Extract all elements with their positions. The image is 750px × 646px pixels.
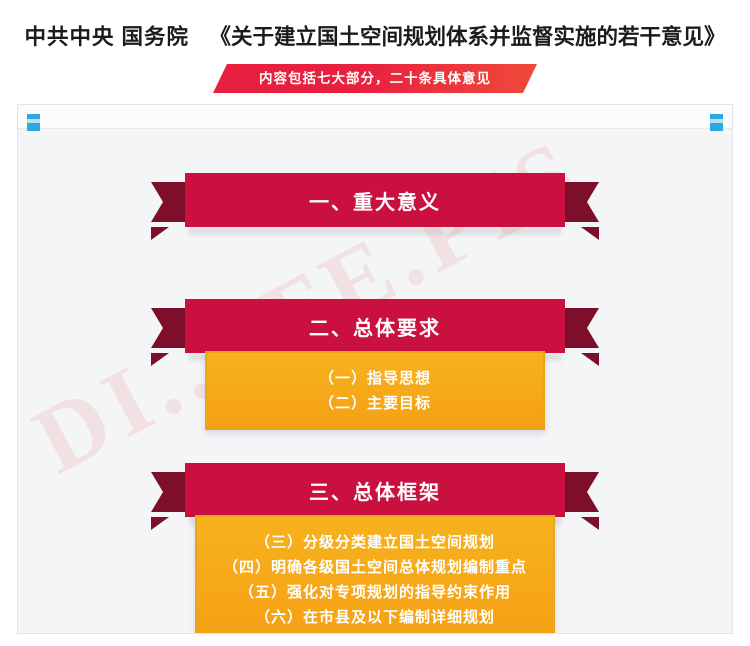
content-panel: DI..TFE.PIS 一、重大意义 二、总体要求 （一）指导思想 （二）主要目… [17,104,733,634]
panel-topbar [18,105,732,129]
ribbon-notch-left [151,227,169,240]
clip-left-icon [27,114,40,131]
ribbon-notch-right [581,353,599,366]
section-2-title: 二、总体要求 [185,299,565,353]
ribbon-tail-right [565,182,599,222]
section-2-items: （一）指导思想 （二）主要目标 [205,351,545,430]
ribbon-shadow [189,227,561,235]
section-1-ribbon: 一、重大意义 [185,173,565,227]
ribbon-tail-left [151,308,185,348]
list-item: （六）在市县及以下编制详细规划 [197,605,553,630]
section-3-items: （三）分级分类建立国土空间规划 （四）明确各级国土空间总体规划编制重点 （五）强… [195,515,555,634]
page-title-lead: 中共中央 国务院 [25,25,189,49]
subtitle-banner: 内容包括七大部分，二十条具体意见 [213,64,537,93]
section-2-ribbon: 二、总体要求 [185,299,565,353]
page-header: 中共中央 国务院 《关于建立国土空间规划体系并监督实施的若干意见》 内容包括七大… [0,0,750,100]
list-item: （四）明确各级国土空间总体规划编制重点 [197,555,553,580]
section-3-title: 三、总体框架 [185,463,565,517]
subtitle-container: 内容包括七大部分，二十条具体意见 [0,64,750,94]
footer-strip [0,634,750,646]
section-1: 一、重大意义 [18,173,732,227]
section-3: 三、总体框架 （三）分级分类建立国土空间规划 （四）明确各级国土空间总体规划编制… [18,463,732,634]
ribbon-notch-left [151,517,169,530]
ribbon-tail-right [565,308,599,348]
list-item: （二）主要目标 [207,391,543,416]
ribbon-notch-right [581,227,599,240]
section-3-ribbon: 三、总体框架 [185,463,565,517]
ribbon-tail-left [151,472,185,512]
list-item: （一）指导思想 [207,366,543,391]
ribbon-tail-left [151,182,185,222]
ribbon-notch-right [581,517,599,530]
section-2: 二、总体要求 （一）指导思想 （二）主要目标 [18,299,732,430]
page-title-document: 《关于建立国土空间规划体系并监督实施的若干意见》 [209,25,725,49]
section-1-title: 一、重大意义 [185,173,565,227]
ribbon-notch-left [151,353,169,366]
clip-right-icon [710,114,723,131]
ribbon-tail-right [565,472,599,512]
page-title: 中共中央 国务院 《关于建立国土空间规划体系并监督实施的若干意见》 [0,20,750,51]
list-item: （五）强化对专项规划的指导约束作用 [197,580,553,605]
list-item: （三）分级分类建立国土空间规划 [197,530,553,555]
